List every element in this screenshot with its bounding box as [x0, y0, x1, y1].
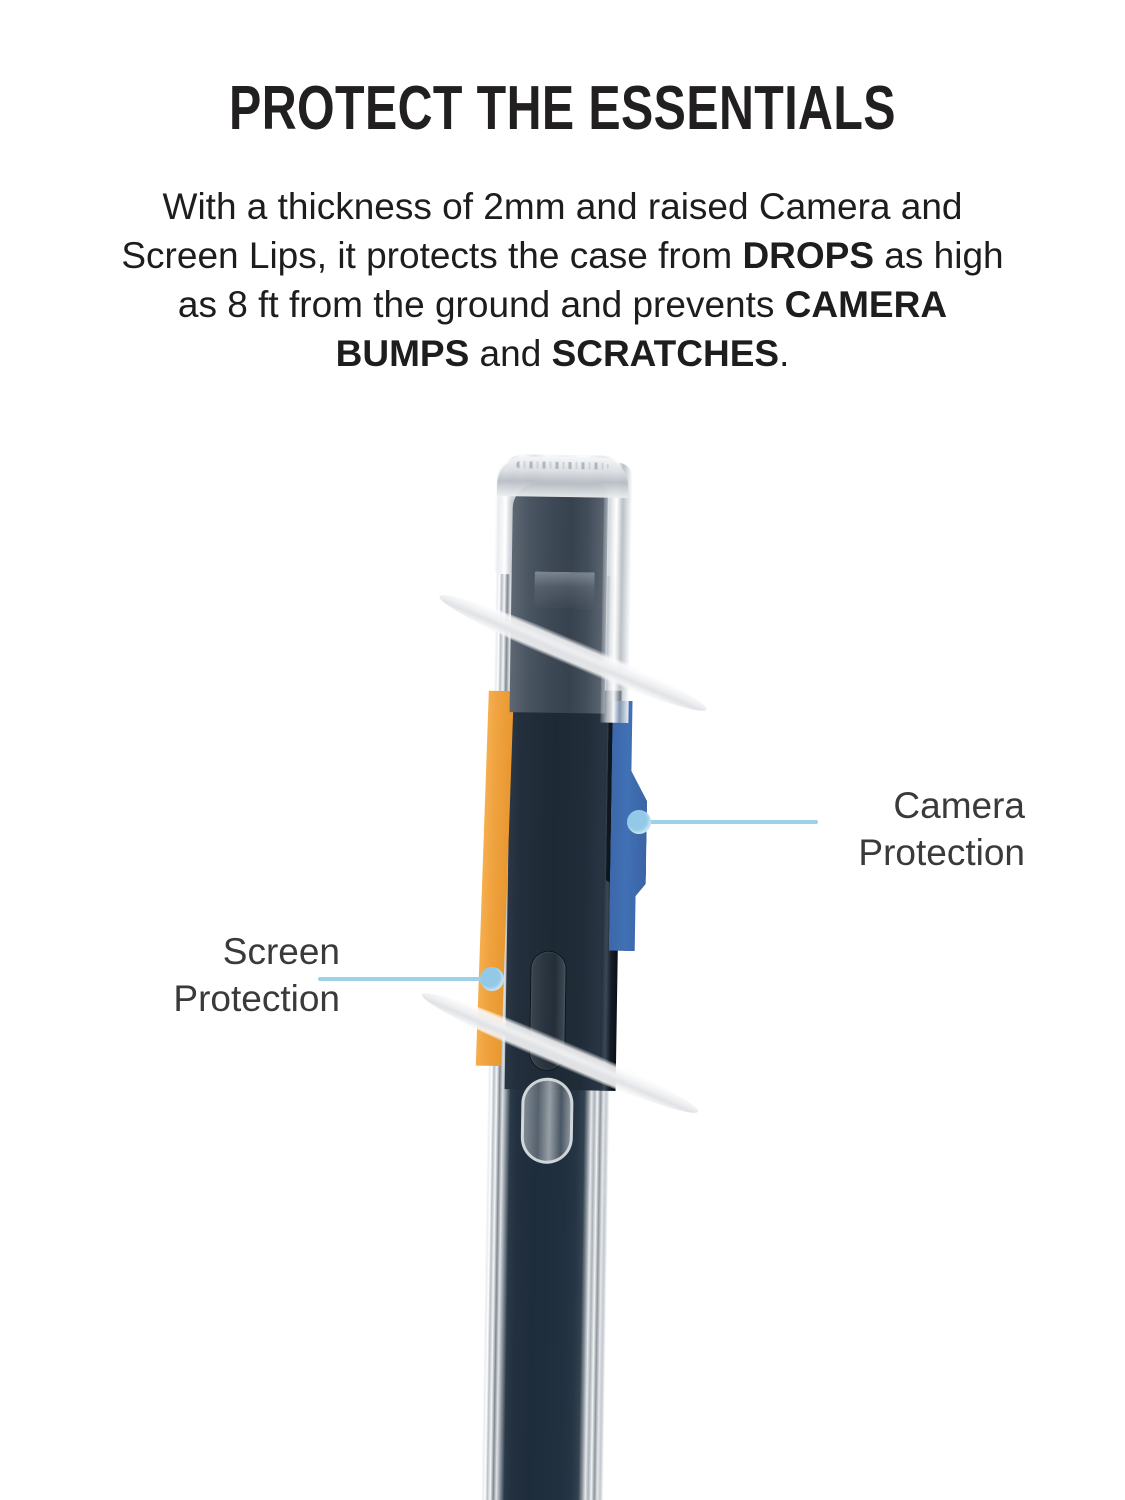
clear-case-top: [494, 454, 632, 576]
phone-top-inner-detail: [534, 572, 595, 609]
description-paragraph: With a thickness of 2mm and raised Camer…: [110, 182, 1015, 378]
phone-top-body: [510, 482, 609, 713]
phone-mid-body: [505, 689, 621, 1091]
screen-protection-leader-line: [318, 977, 490, 981]
screen-protection-dot: [480, 967, 504, 991]
infographic-page: PROTECT THE ESSENTIALS With a thickness …: [0, 0, 1125, 1500]
page-title: PROTECT THE ESSENTIALS: [124, 78, 1002, 140]
phone-lower-shaft: [481, 499, 626, 1500]
diagonal-light-band-bottom: [417, 982, 703, 1123]
camera-protection-dot: [627, 810, 651, 834]
diagonal-light-band-top: [434, 584, 711, 721]
emphasis-drops: DROPS: [742, 235, 874, 276]
screen-protection-label: Screen Protection: [85, 928, 340, 1022]
case-top-rim-texture: [516, 461, 608, 469]
volume-button: [530, 952, 566, 1071]
case-top-gloss: [600, 463, 632, 723]
screen-lip-strip: [476, 691, 514, 1066]
body-text-part-3: and: [469, 333, 551, 374]
camera-protection-label: Camera Protection: [770, 782, 1025, 876]
phone-mid-edge-highlight: [600, 691, 622, 1091]
body-text-part-4: .: [779, 333, 789, 374]
case-top-rim: [497, 456, 629, 498]
camera-bump-shadow: [606, 701, 627, 886]
case-button-cover: [520, 1077, 573, 1164]
emphasis-scratches: SCRATCHES: [552, 333, 780, 374]
